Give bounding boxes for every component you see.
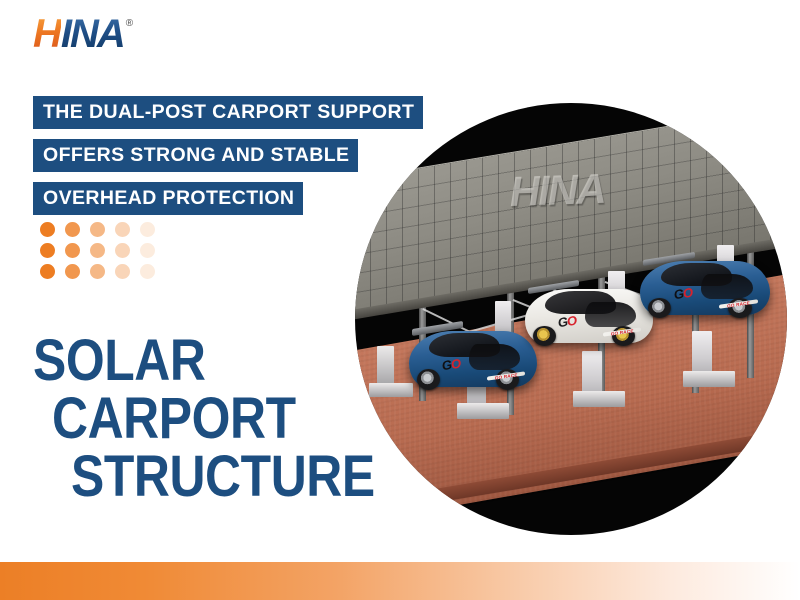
post-base bbox=[457, 403, 509, 419]
logo-wordmark: HINA bbox=[33, 14, 124, 54]
dot bbox=[90, 264, 105, 279]
headline-line-3: OVERHEAD PROTECTION bbox=[33, 182, 303, 215]
dot bbox=[140, 222, 155, 237]
car-middle-white: GO GO RACE bbox=[525, 289, 653, 343]
car-wheel bbox=[417, 369, 440, 390]
dot bbox=[90, 222, 105, 237]
footer-gradient-bar bbox=[0, 562, 800, 600]
decorative-dot-grid bbox=[40, 222, 165, 285]
post-base bbox=[683, 371, 735, 387]
logo-letter-h: H bbox=[33, 14, 61, 54]
dot bbox=[115, 243, 130, 258]
roof-watermark-logo: HINA bbox=[509, 165, 605, 216]
post-base bbox=[369, 383, 413, 397]
dot bbox=[140, 264, 155, 279]
car-hood-stripe bbox=[585, 302, 636, 327]
car-livery-text: GO bbox=[674, 285, 692, 303]
logo-letters-ina: INA bbox=[61, 14, 124, 54]
poster-canvas: HINA ® THE DUAL-POST CARPORT SUPPORT OFF… bbox=[0, 0, 800, 600]
carport-3d-scene: HINA GO GO bbox=[355, 103, 787, 535]
car-livery-text: GO bbox=[442, 355, 460, 373]
dot bbox=[115, 264, 130, 279]
dot bbox=[65, 222, 80, 237]
title-line-3: STRUCTURE bbox=[71, 448, 375, 506]
dot bbox=[65, 264, 80, 279]
title-line-1: SOLAR bbox=[33, 332, 369, 390]
car-hood-stripe bbox=[469, 344, 520, 370]
dot bbox=[140, 243, 155, 258]
headline-line-2: OFFERS STRONG AND STABLE bbox=[33, 139, 358, 172]
registered-trademark-icon: ® bbox=[126, 18, 133, 29]
car-rear-blue: GO GO RACE bbox=[640, 261, 770, 315]
car-livery-text: GO bbox=[558, 313, 576, 331]
car-hood-stripe bbox=[701, 274, 753, 299]
dot bbox=[115, 222, 130, 237]
dot bbox=[40, 222, 55, 237]
dot bbox=[40, 243, 55, 258]
car-wheel bbox=[533, 326, 556, 347]
dot bbox=[90, 243, 105, 258]
car-front-blue: GO GO RACE bbox=[409, 331, 537, 387]
product-photo-circle: HINA GO GO bbox=[355, 103, 787, 535]
brand-logo[interactable]: HINA ® bbox=[33, 14, 133, 54]
dot bbox=[40, 264, 55, 279]
post-base bbox=[573, 391, 625, 407]
dot bbox=[65, 243, 80, 258]
title-line-2: CARPORT bbox=[52, 390, 372, 448]
